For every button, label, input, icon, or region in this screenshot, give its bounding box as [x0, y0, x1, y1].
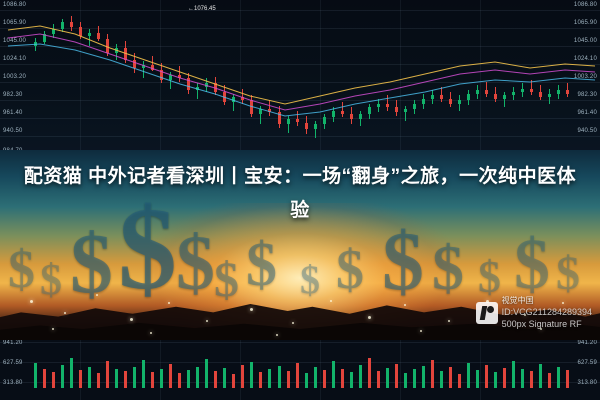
y-axis-tick-left: 1024.10 [3, 56, 26, 62]
headline-text: 配资猫 中外记者看深圳丨宝安：一场“翻身”之旅，一次纯中医体验 [18, 160, 582, 228]
volume-bar [476, 370, 479, 388]
volume-bar [494, 372, 497, 388]
gridline [480, 0, 481, 158]
candle-body [187, 78, 190, 90]
candle-body [278, 112, 281, 124]
candle-body [296, 119, 299, 122]
candle-body [250, 100, 253, 114]
bokeh-dot [420, 330, 422, 332]
volume-bar [52, 372, 55, 389]
candle-body [43, 34, 46, 42]
y-axis-tick-right: 1024.10 [574, 56, 597, 62]
bokeh-dot [64, 312, 66, 314]
bokeh-dot [404, 304, 406, 306]
candle-body [404, 109, 407, 112]
candle-body [214, 83, 217, 92]
candle-body [539, 92, 542, 97]
volume-bar [241, 365, 244, 388]
candle-body [386, 104, 389, 107]
volume-tick-left: 627.59 [3, 360, 23, 366]
volume-bar [386, 368, 389, 388]
volume-bar [422, 366, 425, 388]
y-axis-tick-left: 961.40 [3, 110, 23, 116]
candle-body [79, 27, 82, 36]
candle-body [133, 60, 136, 69]
candle-body [142, 65, 145, 68]
candle-body [350, 114, 353, 119]
candle-body [160, 70, 163, 80]
volume-bar [250, 362, 253, 388]
bokeh-dot [130, 318, 133, 321]
candle-body [557, 90, 560, 93]
volume-bar [341, 369, 344, 388]
volume-bar [79, 370, 82, 388]
gridline [0, 46, 600, 47]
y-axis-tick-left: 1045.00 [3, 38, 26, 44]
gridline [0, 100, 600, 101]
price-annotation: ←1076.45 [188, 6, 216, 12]
bokeh-dot [150, 332, 152, 334]
candle-wick [504, 92, 505, 107]
candle-body [52, 29, 55, 34]
watermark-brand: 视觉中国 [502, 296, 592, 306]
bokeh-dot [96, 294, 98, 296]
volume-bar [223, 368, 226, 388]
bokeh-dot [276, 334, 278, 336]
volume-bar [34, 363, 37, 388]
candle-body [440, 95, 443, 98]
bokeh-dot [330, 300, 332, 302]
volume-bar [97, 373, 100, 388]
bokeh-dot [30, 300, 33, 303]
volume-bar [169, 364, 172, 388]
y-axis-tick-left: 940.50 [3, 128, 23, 134]
candle-body [259, 109, 262, 114]
candle-body [521, 89, 524, 92]
candle-body [368, 107, 371, 114]
candle-body [124, 48, 127, 60]
volume-bar [548, 373, 551, 388]
volume-bar [566, 370, 569, 388]
candle-body [196, 87, 199, 90]
candle-wick [405, 106, 406, 121]
volume-bar [395, 364, 398, 388]
bokeh-dot [448, 320, 450, 322]
gridline [0, 342, 600, 343]
gridline [0, 82, 600, 83]
volume-bar [214, 371, 217, 388]
volume-tick-left: 941.20 [3, 340, 23, 346]
volume-bar [278, 366, 281, 388]
candle-body [223, 92, 226, 102]
volume-bar [485, 365, 488, 388]
candle-body [314, 124, 317, 129]
gridline [320, 0, 321, 158]
volume-bar [43, 369, 46, 388]
volume-tick-right: 941.20 [577, 340, 597, 346]
gridline [0, 136, 600, 137]
bokeh-dot [292, 322, 294, 324]
watermark: 视觉中国 ID:VCG211284289394 500px Signature … [476, 296, 592, 330]
volume-bar [115, 369, 118, 388]
y-axis-tick-left: 1065.90 [3, 20, 26, 26]
y-axis-tick-right: 961.40 [577, 110, 597, 116]
volume-bar [512, 361, 515, 388]
volume-panel: 941.20 627.59 313.80 941.20 627.59 313.8… [0, 340, 600, 400]
candle-body [61, 22, 64, 29]
gridline [0, 64, 600, 65]
candle-body [512, 92, 515, 95]
candle-body [566, 90, 569, 93]
bokeh-dot [250, 308, 253, 311]
candle-body [97, 33, 100, 40]
volume-bar [413, 369, 416, 388]
watermark-id: ID:VCG211284289394 [502, 306, 592, 318]
candle-body [449, 99, 452, 104]
volume-bar [142, 360, 145, 388]
candle-body [305, 123, 308, 130]
volume-bar [187, 370, 190, 388]
volume-bar [323, 370, 326, 388]
gridline [320, 340, 321, 400]
candle-body [494, 94, 497, 99]
gridline [0, 118, 600, 119]
volume-bar [205, 359, 208, 388]
volume-bar [196, 367, 199, 388]
bokeh-dot [368, 316, 371, 319]
gridline [240, 0, 241, 158]
image-canvas: 1086.80 1065.90 1045.00 1024.10 1003.20 … [0, 0, 600, 400]
candle-body [359, 114, 362, 119]
volume-bar [377, 371, 380, 388]
candle-body [241, 97, 244, 100]
volume-bar [440, 371, 443, 388]
volume-bar [296, 363, 299, 388]
candle-body [467, 94, 470, 101]
volume-bar [70, 358, 73, 388]
volume-bar [332, 361, 335, 388]
candle-body [268, 109, 271, 112]
watermark-row: 视觉中国 ID:VCG211284289394 500px Signature … [476, 296, 592, 330]
volume-bar [404, 373, 407, 388]
candle-body [287, 119, 290, 124]
volume-bar [106, 361, 109, 388]
candle-body [395, 107, 398, 112]
candle-body [431, 95, 434, 98]
y-axis-tick-left: 1003.20 [3, 74, 26, 80]
volume-bar [287, 371, 290, 388]
y-axis-tick-right: 940.50 [577, 128, 597, 134]
volume-bar [503, 368, 506, 388]
volume-bar [350, 372, 353, 388]
candle-body [332, 111, 335, 118]
candle-body [34, 42, 37, 46]
gridline [400, 340, 401, 400]
candle-body [485, 90, 488, 93]
y-axis-tick-right: 1045.00 [574, 38, 597, 44]
price-panel: 1086.80 1065.90 1045.00 1024.10 1003.20 … [0, 0, 600, 158]
candle-body [476, 90, 479, 93]
candle-body [323, 117, 326, 124]
candle-body [422, 99, 425, 104]
volume-tick-right: 313.80 [577, 380, 597, 386]
y-axis-tick-right: 1086.80 [574, 2, 597, 8]
moving-average-lines [0, 0, 600, 158]
volume-bar [458, 374, 461, 388]
candle-body [458, 100, 461, 103]
candle-body [115, 48, 118, 53]
gridline [0, 10, 600, 11]
gridline [400, 0, 401, 158]
volume-bar [259, 372, 262, 388]
bokeh-dot [52, 328, 54, 330]
candle-body [341, 111, 344, 114]
volume-bar [133, 367, 136, 389]
volume-tick-left: 313.80 [3, 380, 23, 386]
volume-bar [268, 369, 271, 388]
candle-wick [197, 83, 198, 98]
volume-bar [178, 373, 181, 388]
candle-body [205, 83, 208, 86]
volume-bar [314, 367, 317, 388]
candle-body [70, 22, 73, 27]
candle-body [178, 75, 181, 78]
volume-bar [530, 371, 533, 388]
volume-bar [431, 360, 434, 388]
volume-bar [61, 365, 64, 388]
candle-body [530, 89, 533, 92]
volume-bar [88, 367, 91, 388]
candle-body [88, 33, 91, 36]
candle-body [232, 97, 235, 102]
volume-bar [124, 371, 127, 388]
volume-bar [359, 365, 362, 388]
volume-bar [539, 364, 542, 388]
bokeh-dot [206, 320, 208, 322]
volume-bar [160, 369, 163, 388]
volume-bar [151, 372, 154, 388]
watermark-sub: 500px Signature RF [502, 318, 592, 330]
volume-bar [467, 363, 470, 388]
y-axis-tick-right: 1003.20 [574, 74, 597, 80]
gridline [0, 362, 600, 363]
volume-bar [449, 367, 452, 388]
volume-bar [521, 369, 524, 388]
candle-body [106, 39, 109, 53]
y-axis-tick-right: 1065.90 [574, 20, 597, 26]
bokeh-dot [168, 302, 170, 304]
y-axis-tick-left: 982.30 [3, 92, 23, 98]
gridline [480, 340, 481, 400]
volume-bar [368, 358, 371, 388]
candle-body [548, 94, 551, 97]
volume-bar [557, 367, 560, 388]
volume-tick-right: 627.59 [577, 360, 597, 366]
y-axis-tick-left: 1086.80 [3, 2, 26, 8]
volume-bar [305, 373, 308, 388]
volume-bar [232, 374, 235, 388]
candle-body [169, 75, 172, 80]
candle-body [377, 104, 380, 107]
candle-body [413, 104, 416, 109]
vcg-logo-icon [476, 302, 498, 324]
candle-body [503, 95, 506, 98]
candle-body [151, 65, 154, 70]
y-axis-tick-right: 982.30 [577, 92, 597, 98]
